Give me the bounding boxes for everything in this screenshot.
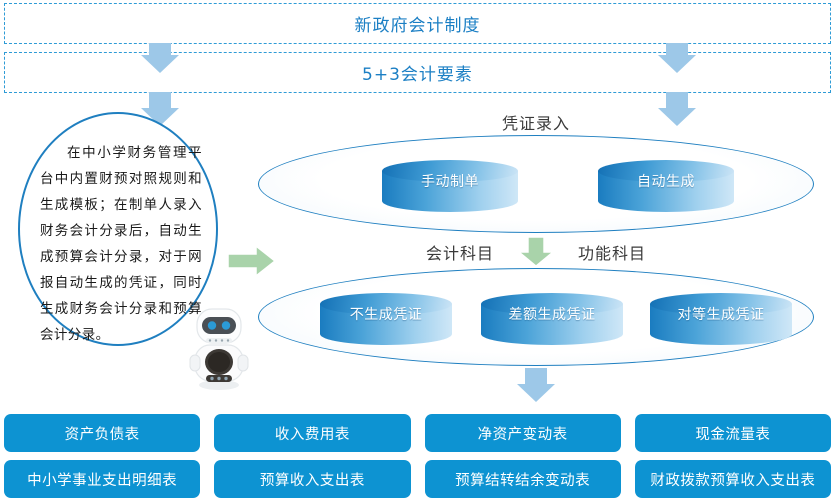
option-label: 自动生成 <box>598 160 734 212</box>
report-label: 财政拨款预算收入支出表 <box>650 469 815 490</box>
report-row-budget: 中小学事业支出明细表 预算收入支出表 预算结转结余变动表 财政拨款预算收入支出表 <box>4 460 831 498</box>
callout-text: 在中小学财务管理平台中内置财预对照规则和生成模板；在制单人录入财务会计分录后，自… <box>40 140 202 348</box>
option-manual-voucher[interactable]: 手动制单 <box>382 160 518 212</box>
report-button[interactable]: 预算结转结余变动表 <box>425 460 621 498</box>
report-label: 预算收入支出表 <box>260 469 365 490</box>
report-button[interactable]: 净资产变动表 <box>425 414 621 452</box>
report-button[interactable]: 资产负债表 <box>4 414 200 452</box>
report-button[interactable]: 收入费用表 <box>214 414 410 452</box>
banner-label: 5+3会计要素 <box>362 60 473 85</box>
option-label: 手动制单 <box>382 160 518 212</box>
banner-label: 新政府会计制度 <box>355 11 481 36</box>
voucher-entry-title: 凭证录入 <box>258 110 814 134</box>
report-row-financial: 资产负债表 收入费用表 净资产变动表 现金流量表 <box>4 414 831 452</box>
report-label: 预算结转结余变动表 <box>455 469 590 490</box>
report-label: 净资产变动表 <box>478 423 568 444</box>
robot-mascot-icon <box>186 305 252 391</box>
report-button[interactable]: 现金流量表 <box>635 414 831 452</box>
functional-subject-label: 功能科目 <box>578 240 646 264</box>
subject-mapping-row: 会计科目 功能科目 <box>258 236 814 268</box>
option-equivalent-voucher[interactable]: 对等生成凭证 <box>650 293 792 345</box>
report-label: 资产负债表 <box>65 423 140 444</box>
option-no-voucher[interactable]: 不生成凭证 <box>320 293 452 345</box>
option-label: 不生成凭证 <box>320 293 452 345</box>
report-label: 现金流量表 <box>695 423 770 444</box>
report-button[interactable]: 中小学事业支出明细表 <box>4 460 200 498</box>
green-down-arrow-icon <box>516 237 556 267</box>
option-label: 对等生成凭证 <box>650 293 792 345</box>
diagram-canvas: 新政府会计制度 5+3会计要素 在中小学财务管理平台中内置财预对照规则和生成模板… <box>0 0 835 500</box>
report-button[interactable]: 财政拨款预算收入支出表 <box>635 460 831 498</box>
option-difference-voucher[interactable]: 差额生成凭证 <box>481 293 623 345</box>
report-label: 收入费用表 <box>275 423 350 444</box>
option-label: 差额生成凭证 <box>481 293 623 345</box>
banner-five-plus-three-elements: 5+3会计要素 <box>4 52 831 93</box>
banner-new-gov-accounting-system: 新政府会计制度 <box>4 3 831 44</box>
report-button[interactable]: 预算收入支出表 <box>214 460 410 498</box>
report-label: 中小学事业支出明细表 <box>27 469 177 490</box>
option-auto-generate[interactable]: 自动生成 <box>598 160 734 212</box>
accounting-subject-label: 会计科目 <box>426 240 494 264</box>
